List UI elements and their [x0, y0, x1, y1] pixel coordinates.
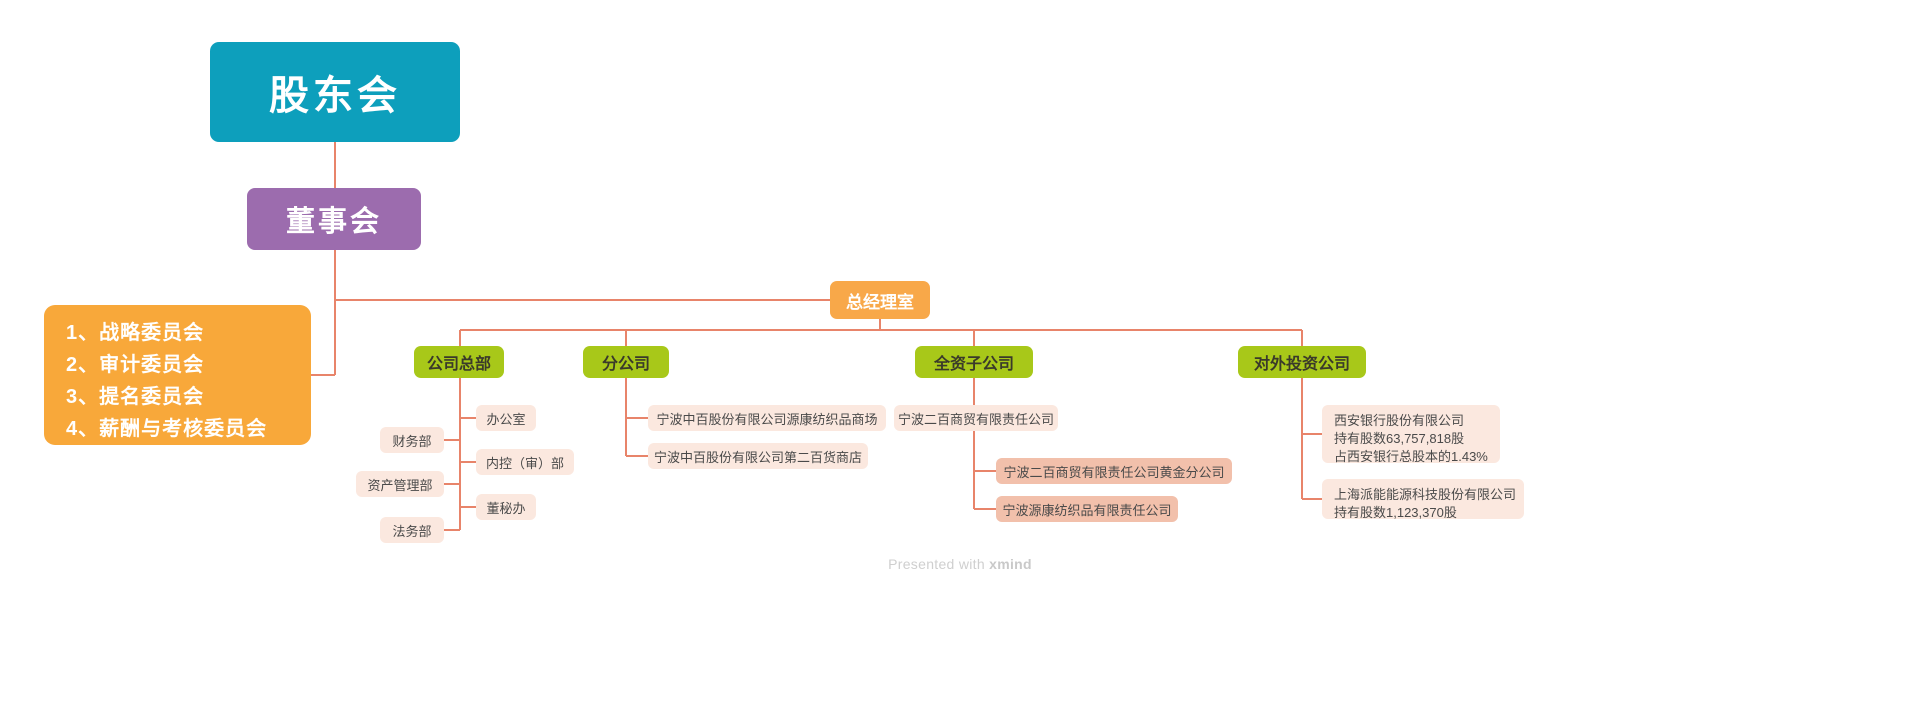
investment-pylon-shares: 持有股数1,123,370股: [1334, 504, 1512, 522]
node-finance-department[interactable]: 财务部: [380, 427, 444, 453]
node-board-of-directors[interactable]: 董事会: [247, 188, 421, 250]
node-ningbo-yuankang-textile-co[interactable]: 宁波源康纺织品有限责任公司: [996, 496, 1178, 522]
node-legal-affairs-department[interactable]: 法务部: [380, 517, 444, 543]
node-investment-xian-bank[interactable]: 西安银行股份有限公司 持有股数63,757,818股 占西安银行总股本的1.43…: [1322, 405, 1500, 463]
investment-xian-bank-shares: 持有股数63,757,818股: [1334, 430, 1488, 448]
node-investment-pylon-technologies[interactable]: 上海派能能源科技股份有限公司 持有股数1,123,370股: [1322, 479, 1524, 519]
node-ningbo-erbai-trading-co[interactable]: 宁波二百商贸有限责任公司: [894, 405, 1058, 431]
footer-brand: xmind: [989, 556, 1032, 572]
node-wholly-owned-subsidiaries[interactable]: 全资子公司: [915, 346, 1033, 378]
footer-prefix: Presented with: [888, 556, 989, 572]
committee-item-4: 4、薪酬与考核委员会: [66, 413, 311, 445]
node-ningbo-erbai-trading-gold-branch[interactable]: 宁波二百商贸有限责任公司黄金分公司: [996, 458, 1232, 484]
investment-pylon-name: 上海派能能源科技股份有限公司: [1334, 486, 1512, 504]
committee-item-1: 1、战略委员会: [66, 317, 311, 349]
node-general-office[interactable]: 办公室: [476, 405, 536, 431]
node-branch-second-department-store[interactable]: 宁波中百股份有限公司第二百货商店: [648, 443, 868, 469]
node-branch-companies[interactable]: 分公司: [583, 346, 669, 378]
node-company-headquarters[interactable]: 公司总部: [414, 346, 504, 378]
node-shareholders-meeting[interactable]: 股东会: [210, 42, 460, 142]
node-internal-control-audit-department[interactable]: 内控（审）部: [476, 449, 574, 475]
committee-item-2: 2、审计委员会: [66, 349, 311, 381]
node-branch-yuankang-textile-market[interactable]: 宁波中百股份有限公司源康纺织品商场: [648, 405, 886, 431]
node-outward-investment-companies[interactable]: 对外投资公司: [1238, 346, 1366, 378]
node-committees-list[interactable]: 1、战略委员会 2、审计委员会 3、提名委员会 4、薪酬与考核委员会: [44, 305, 311, 445]
investment-xian-bank-percent: 占西安银行总股本的1.43%: [1334, 448, 1488, 466]
committee-item-3: 3、提名委员会: [66, 381, 311, 413]
node-asset-management-department[interactable]: 资产管理部: [356, 471, 444, 497]
org-chart-canvas: 股东会 董事会 1、战略委员会 2、审计委员会 3、提名委员会 4、薪酬与考核委…: [0, 0, 1920, 722]
node-board-secretary-office[interactable]: 董秘办: [476, 494, 536, 520]
node-general-manager-office[interactable]: 总经理室: [830, 281, 930, 319]
footer-attribution: Presented with xmind: [0, 556, 1920, 572]
investment-xian-bank-name: 西安银行股份有限公司: [1334, 412, 1488, 430]
